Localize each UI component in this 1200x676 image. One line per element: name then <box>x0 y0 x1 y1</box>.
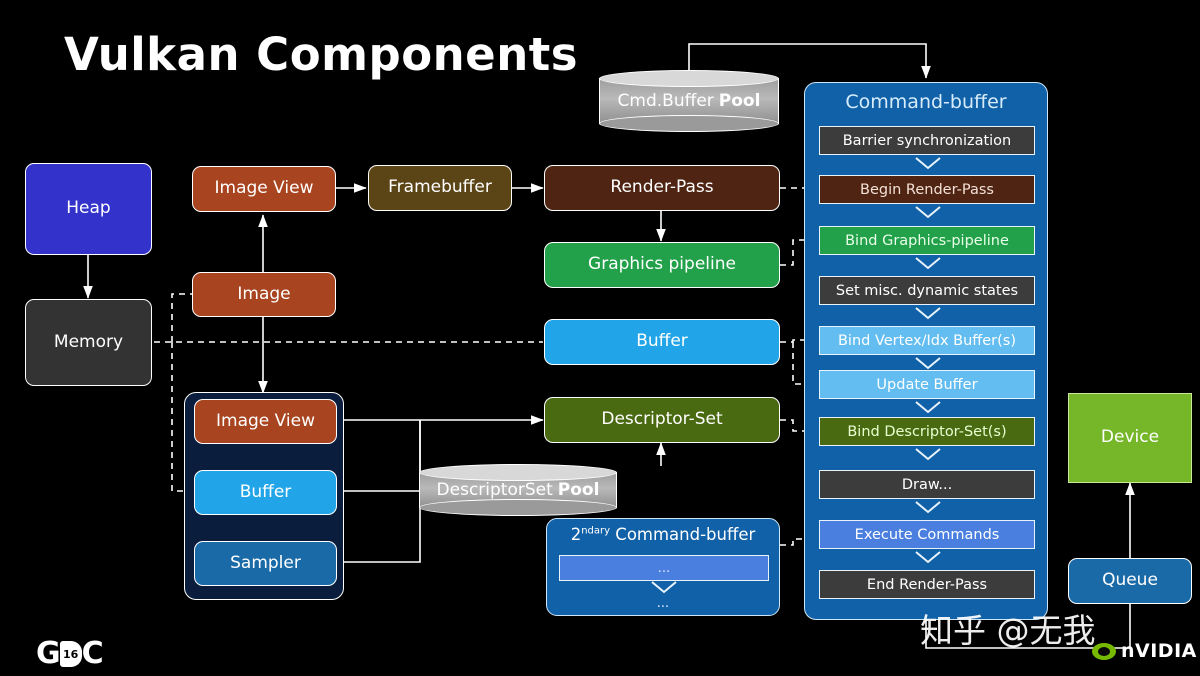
cmd-item-label: Barrier synchronization <box>843 133 1012 149</box>
page-title: Vulkan Components <box>64 28 578 81</box>
cmd-item-label: Bind Graphics-pipeline <box>845 233 1009 249</box>
descriptor-set-pool-label: DescriptorSetPool <box>419 464 617 516</box>
node-buffer[interactable]: Buffer <box>544 319 780 365</box>
secbuf-title-text: Command-buffer <box>610 525 755 544</box>
slide-root: Vulkan Components <box>0 0 1200 676</box>
cmd-buffer-pool[interactable]: Cmd.BufferPool <box>599 70 779 132</box>
cmd-item-end-render-pass[interactable]: End Render-Pass <box>819 570 1035 599</box>
cmd-chevron-icon-4 <box>915 307 941 320</box>
wire-memory-to-image-dashed <box>172 294 192 342</box>
node-heap[interactable]: Heap <box>25 163 152 255</box>
descriptor-set-pool[interactable]: DescriptorSetPool <box>419 464 617 516</box>
secbuf-bar-dots: ... <box>658 561 670 576</box>
cmd-item-label: Execute Commands <box>855 527 1000 543</box>
resource-group-container: Image View Buffer Sampler <box>184 392 344 600</box>
cmd-item-update-buffer[interactable]: Update Buffer <box>819 370 1035 399</box>
cmd-chevron-icon-6 <box>915 401 941 414</box>
gdc-letter-c: C <box>82 636 103 671</box>
wire-group-sampler-out <box>344 420 420 562</box>
cmd-item-bind-descriptor-sets[interactable]: Bind Descriptor-Set(s) <box>819 417 1035 446</box>
gdc-year-badge: 16 <box>60 641 82 667</box>
wire-buffer-to-updatebuffer-dashed <box>793 342 804 384</box>
cmd-item-draw[interactable]: Draw... <box>819 470 1035 499</box>
watermark-text: 知乎 @无我 <box>920 604 1096 652</box>
secbuf-prefix: 2 <box>571 525 582 544</box>
cmd-chevron-icon-9 <box>915 551 941 564</box>
cmd-item-label: Bind Vertex/Idx Buffer(s) <box>838 333 1016 349</box>
node-queue[interactable]: Queue <box>1068 558 1192 604</box>
cmd-item-bind-vertex-idx-buffers[interactable]: Bind Vertex/Idx Buffer(s) <box>819 326 1035 355</box>
nvidia-wordmark: nVIDIA <box>1121 640 1197 662</box>
node-heap-label: Heap <box>66 199 110 219</box>
group-item-image-view[interactable]: Image View <box>194 399 337 444</box>
cmd-item-begin-render-pass[interactable]: Begin Render-Pass <box>819 175 1035 204</box>
node-image[interactable]: Image <box>192 272 336 317</box>
secondary-command-buffer[interactable]: 2ndary Command-buffer ... ... <box>546 518 780 616</box>
group-item-buffer[interactable]: Buffer <box>194 470 337 515</box>
cmd-item-label: Set misc. dynamic states <box>836 283 1018 299</box>
cmd-item-barrier-synchronization[interactable]: Barrier synchronization <box>819 126 1035 155</box>
wire-group-buffer-out <box>344 420 420 491</box>
node-render-pass-label: Render-Pass <box>610 178 713 198</box>
node-descriptor-set[interactable]: Descriptor-Set <box>544 397 780 443</box>
gdc-logo: G16C <box>36 636 103 671</box>
wire-buffer-to-bindvtx-dashed <box>780 340 804 342</box>
cmd-item-label: Update Buffer <box>876 377 977 393</box>
node-buffer-label: Buffer <box>636 332 688 352</box>
group-item-image-view-label: Image View <box>216 412 315 432</box>
node-queue-label: Queue <box>1102 571 1158 591</box>
cmd-chevron-icon-3 <box>915 257 941 270</box>
command-buffer-panel: Command-buffer Barrier synchronization B… <box>804 82 1048 620</box>
group-item-sampler[interactable]: Sampler <box>194 541 337 586</box>
wire-secbuf-to-execute-dashed <box>780 539 804 545</box>
cmd-item-label: End Render-Pass <box>867 577 987 593</box>
node-framebuffer[interactable]: Framebuffer <box>368 165 512 211</box>
descriptor-set-pool-prefix: DescriptorSet <box>437 480 553 500</box>
node-framebuffer-label: Framebuffer <box>388 178 492 198</box>
gdc-badge-number: 16 <box>60 641 82 667</box>
node-render-pass[interactable]: Render-Pass <box>544 165 780 211</box>
node-graphics-pipeline-label: Graphics pipeline <box>588 255 736 275</box>
node-image-view[interactable]: Image View <box>192 166 336 212</box>
cmd-buffer-pool-bold: Pool <box>719 91 761 111</box>
cmd-buffer-pool-prefix: Cmd.Buffer <box>618 91 714 111</box>
wire-descriptorset-to-bind-dashed <box>780 420 804 431</box>
cmd-chevron-icon-2 <box>915 206 941 219</box>
cmd-chevron-icon-1 <box>915 157 941 170</box>
node-image-view-label: Image View <box>215 179 314 199</box>
secbuf-superscript: ndary <box>581 526 610 537</box>
node-image-label: Image <box>237 285 290 305</box>
cmd-item-label: Draw... <box>902 477 952 493</box>
secondary-command-buffer-dots: ... <box>547 596 779 611</box>
wire-pipeline-to-bindpipeline-dashed <box>780 240 804 265</box>
cmd-item-label: Begin Render-Pass <box>860 182 994 198</box>
secondary-command-buffer-bar[interactable]: ... <box>559 555 769 581</box>
node-graphics-pipeline[interactable]: Graphics pipeline <box>544 242 780 288</box>
cmd-chevron-icon-8 <box>915 501 941 514</box>
secondary-command-buffer-title: 2ndary Command-buffer <box>547 525 779 544</box>
node-memory[interactable]: Memory <box>25 299 152 386</box>
cmd-item-bind-graphics-pipeline[interactable]: Bind Graphics-pipeline <box>819 226 1035 255</box>
node-descriptor-set-label: Descriptor-Set <box>601 410 722 430</box>
cmd-chevron-icon-7 <box>915 448 941 461</box>
descriptor-set-pool-bold: Pool <box>558 480 600 500</box>
nvidia-eye-icon <box>1092 643 1116 660</box>
node-device-label: Device <box>1101 428 1159 448</box>
node-memory-label: Memory <box>54 333 123 353</box>
group-item-buffer-label: Buffer <box>240 483 292 503</box>
cmd-item-execute-commands[interactable]: Execute Commands <box>819 520 1035 549</box>
secbuf-chevron-icon <box>651 581 677 594</box>
nvidia-logo: nVIDIA <box>1092 640 1197 662</box>
cmd-item-set-misc-dynamic-states[interactable]: Set misc. dynamic states <box>819 276 1035 305</box>
gdc-letter-g: G <box>36 636 60 671</box>
node-device[interactable]: Device <box>1068 393 1192 483</box>
cmd-item-label: Bind Descriptor-Set(s) <box>847 424 1006 440</box>
group-item-sampler-label: Sampler <box>230 554 301 574</box>
command-buffer-title: Command-buffer <box>805 91 1047 113</box>
cmd-buffer-pool-label: Cmd.BufferPool <box>599 70 779 132</box>
cmd-chevron-icon-5 <box>915 357 941 370</box>
